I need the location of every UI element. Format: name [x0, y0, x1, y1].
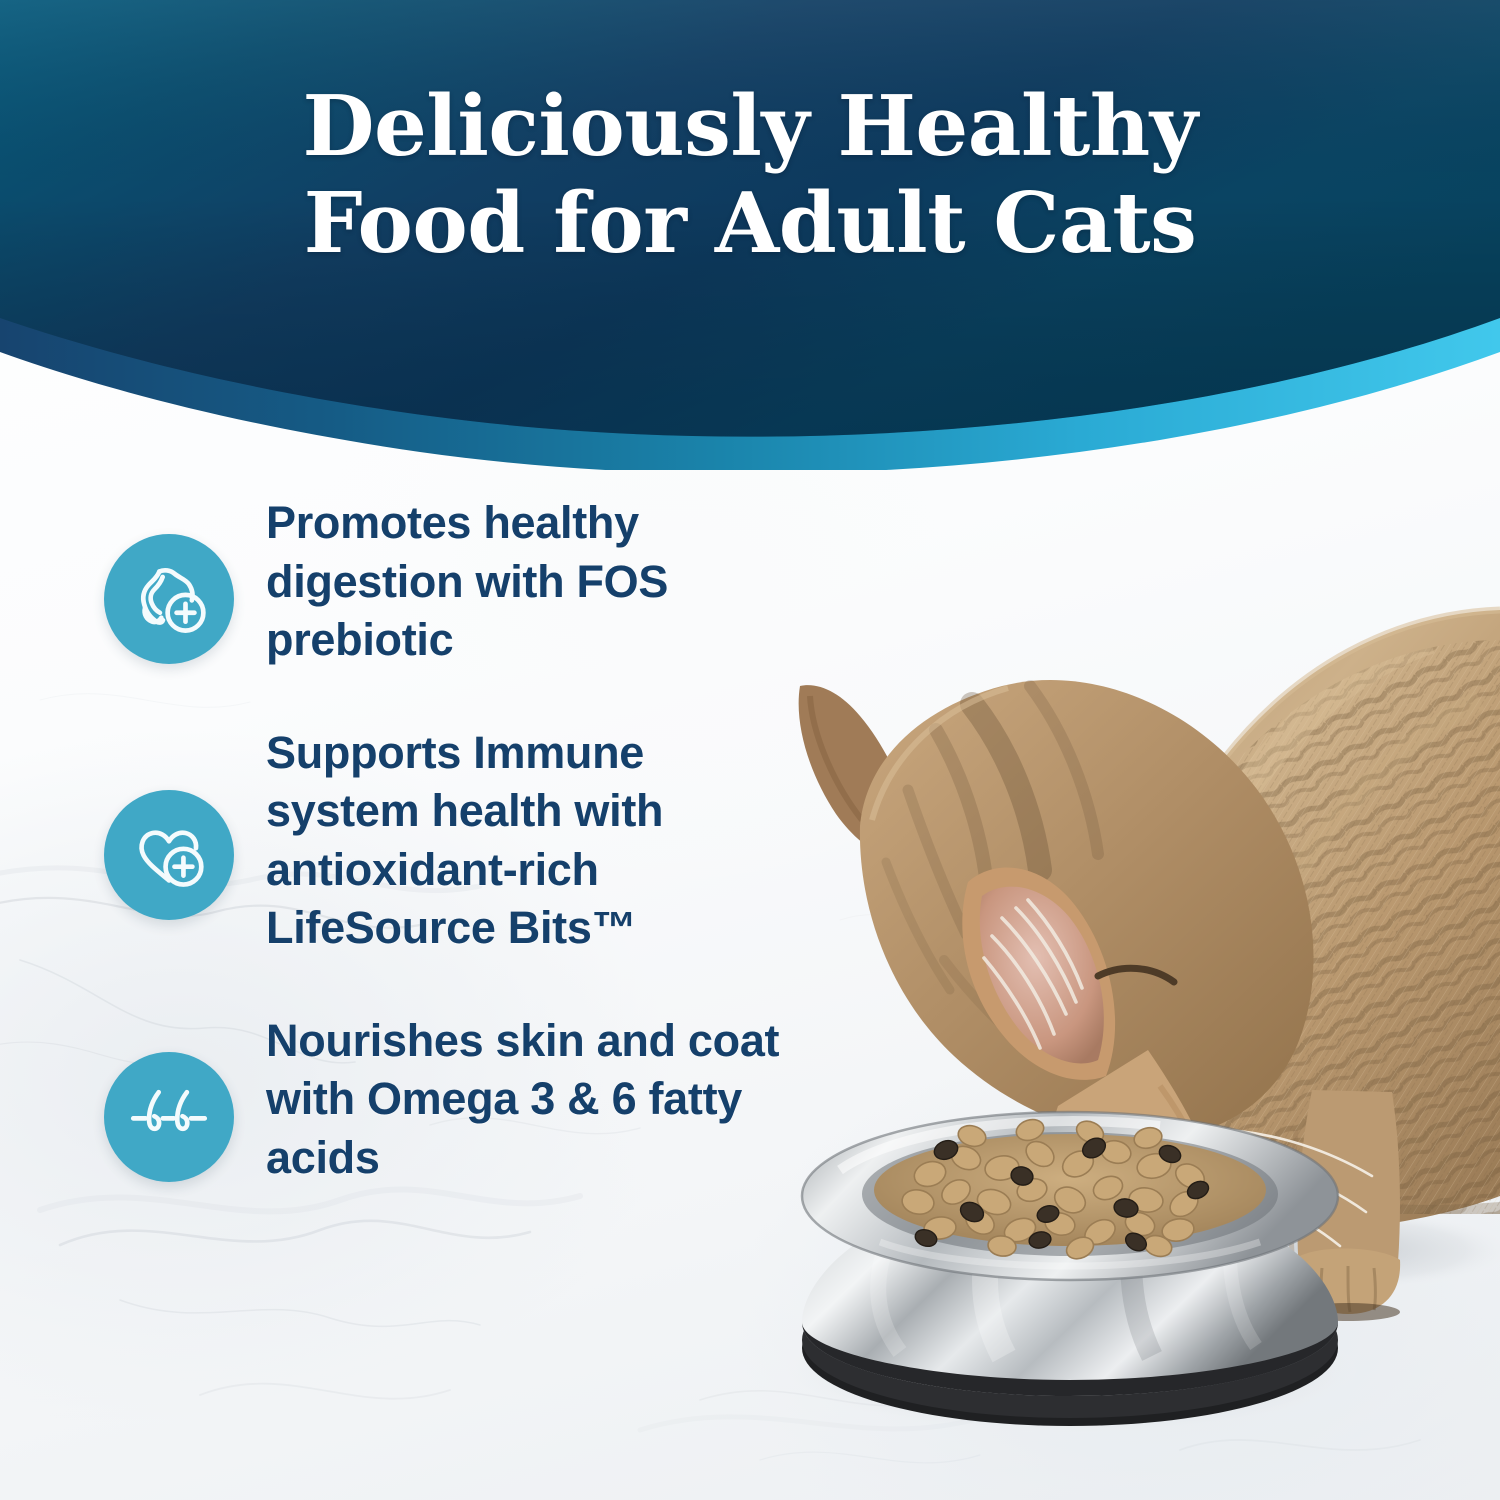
page-title-line-2: Food for Adult Cats	[130, 175, 1370, 272]
benefit-text-skin-coat: Nourishes skin and coat with Omega 3 & 6…	[266, 1010, 784, 1188]
hair-follicle-icon	[104, 1052, 234, 1182]
page-title: Deliciously Healthy Food for Adult Cats	[0, 78, 1500, 272]
benefits-list: Promotes healthy digestion with FOS preb…	[104, 492, 784, 1187]
benefit-text-immune: Supports Immune system health with antio…	[266, 722, 784, 958]
benefit-text-digestion: Promotes healthy digestion with FOS preb…	[266, 492, 784, 670]
food-bowl	[802, 1112, 1338, 1426]
stomach-plus-icon	[104, 534, 234, 664]
cat-eating-photo	[740, 490, 1500, 1500]
benefit-item-immune: Supports Immune system health with antio…	[104, 722, 784, 958]
benefit-item-digestion: Promotes healthy digestion with FOS preb…	[104, 492, 784, 670]
benefit-item-skin-coat: Nourishes skin and coat with Omega 3 & 6…	[104, 1010, 784, 1188]
heart-plus-icon	[104, 790, 234, 920]
product-feature-banner: Deliciously Healthy Food for Adult Cats	[0, 0, 1500, 1500]
hero-banner: Deliciously Healthy Food for Adult Cats	[0, 0, 1500, 470]
page-title-line-1: Deliciously Healthy	[303, 77, 1198, 175]
